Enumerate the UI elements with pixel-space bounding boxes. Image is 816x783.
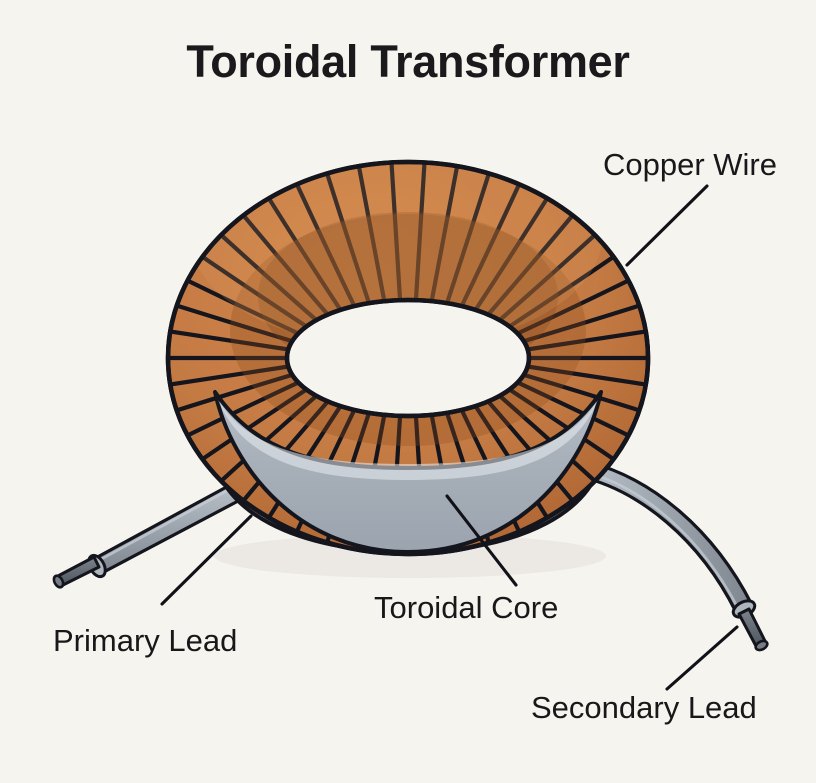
toroidal-transformer-illustration: Toroidal Transformer — [0, 0, 816, 783]
label-copper-wire: Copper Wire — [603, 147, 777, 182]
label-primary-lead: Primary Lead — [53, 623, 237, 658]
secondary-lead-wire — [578, 462, 769, 652]
leader-line-copper-wire — [627, 186, 707, 265]
label-toroidal-core: Toroidal Core — [374, 590, 558, 625]
diagram-canvas: Toroidal Transformer — [0, 0, 816, 783]
primary-lead-wire — [52, 484, 240, 589]
page-title: Toroidal Transformer — [186, 36, 629, 87]
secondary-lead-highlight — [582, 471, 738, 608]
primary-lead-body — [92, 484, 240, 574]
primary-lead-highlight — [96, 487, 234, 562]
leader-line-secondary-lead — [667, 627, 737, 689]
secondary-lead-body — [578, 462, 752, 612]
label-secondary-lead: Secondary Lead — [531, 690, 757, 725]
